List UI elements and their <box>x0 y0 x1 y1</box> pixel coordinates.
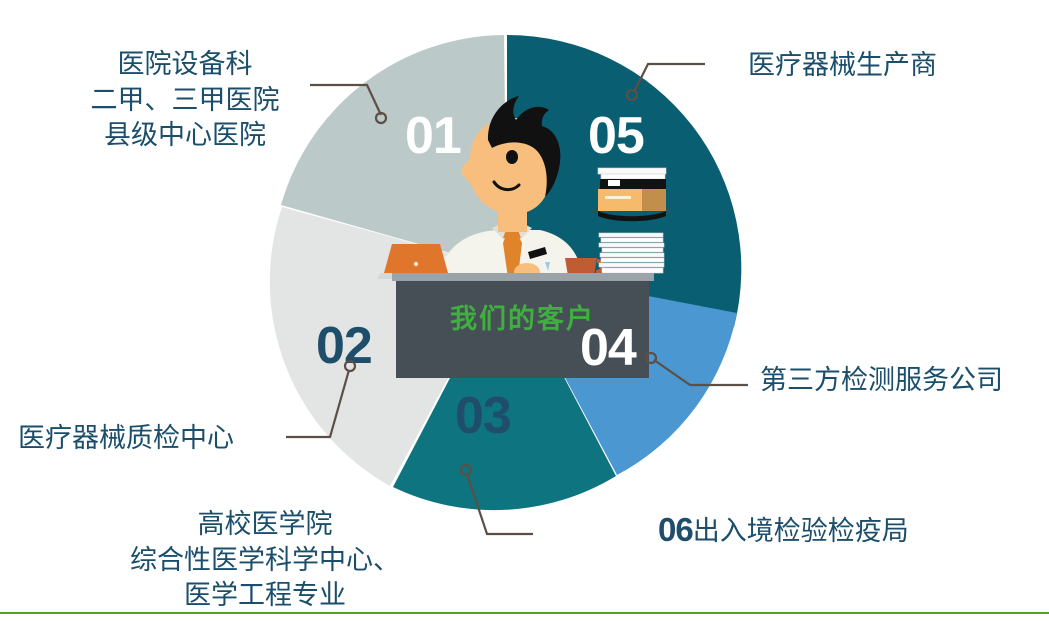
callout-01-line3: 县级中心医院 <box>60 118 310 154</box>
callout-03-line2: 综合性医学科学中心、 <box>110 543 420 579</box>
leader-dot-05 <box>627 90 637 100</box>
bottom-divider <box>0 612 1049 614</box>
leader-line-05 <box>634 64 705 92</box>
callout-01-line1: 医院设备科 <box>60 47 310 83</box>
callout-04-line1: 第三方检测服务公司 <box>760 363 1003 399</box>
callout-05[interactable]: 医疗器械生产商 <box>748 48 937 84</box>
segment-number-06: 06 <box>658 511 693 548</box>
leader-line-04 <box>654 360 748 385</box>
leader-dot-02 <box>345 361 355 371</box>
callout-02-line1: 医疗器械质检中心 <box>18 421 234 457</box>
leader-dot-03 <box>461 465 471 475</box>
leader-line-03 <box>467 474 533 534</box>
callout-04[interactable]: 第三方检测服务公司 <box>760 363 1003 399</box>
callout-03-line3: 医学工程专业 <box>110 578 420 614</box>
infographic-canvas: 01 05 02 03 04 我们的客户 医院设备科 二甲、三甲医院 县级中心 <box>0 0 1049 621</box>
callout-06[interactable]: 06出入境检验检疫局 <box>658 508 909 552</box>
callout-03[interactable]: 高校医学院 综合性医学科学中心、 医学工程专业 <box>110 507 420 614</box>
leader-line-02 <box>286 370 349 437</box>
callout-01[interactable]: 医院设备科 二甲、三甲医院 县级中心医院 <box>60 47 310 154</box>
callout-01-line2: 二甲、三甲医院 <box>60 83 310 119</box>
callout-06-line1: 出入境检验检疫局 <box>693 516 909 546</box>
callout-05-line1: 医疗器械生产商 <box>748 48 937 84</box>
callout-02[interactable]: 医疗器械质检中心 <box>18 421 234 457</box>
callout-03-line1: 高校医学院 <box>110 507 420 543</box>
leader-dot-04 <box>646 353 656 363</box>
leader-line-01 <box>310 85 381 115</box>
